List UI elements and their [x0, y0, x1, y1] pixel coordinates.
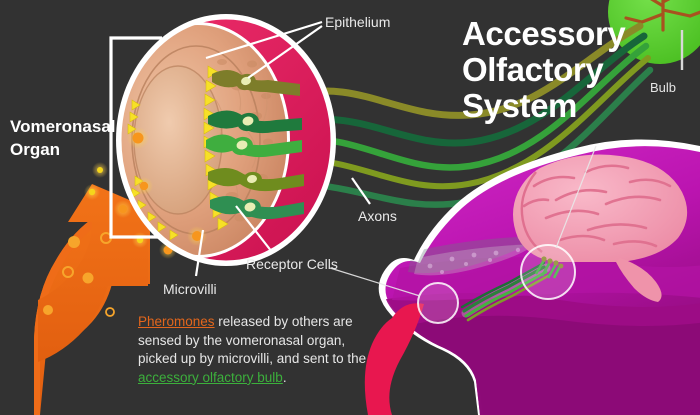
vno-highlight-circle	[418, 283, 458, 323]
infographic-root: Accessory Olfactory System Vomeronasal O…	[0, 0, 700, 415]
caption-body-2: .	[283, 370, 287, 385]
bulb-highlight-circle	[521, 245, 575, 299]
title-line-1: Accessory	[462, 16, 662, 52]
label-microvilli: Microvilli	[163, 281, 217, 297]
label-axons: Axons	[358, 208, 397, 224]
label-vno-line-1: Vomeronasal	[10, 115, 120, 138]
caption-link-accessory-olfactory-bulb[interactable]: accessory olfactory bulb	[138, 370, 283, 385]
caption-text: Pheromones released by others are sensed…	[138, 313, 370, 387]
label-bulb: Bulb	[650, 80, 676, 95]
label-vomeronasal-organ: Vomeronasal Organ	[10, 115, 120, 161]
label-epithelium: Epithelium	[325, 14, 390, 30]
title-line-3: System	[462, 88, 662, 124]
page-title: Accessory Olfactory System	[462, 16, 662, 124]
title-line-2: Olfactory	[462, 52, 662, 88]
label-vno-line-2: Organ	[10, 138, 120, 161]
caption-link-pheromones[interactable]: Pheromones	[138, 314, 215, 329]
pheromone-arrow	[34, 184, 150, 415]
label-receptor-cells: Receptor Cells	[246, 256, 338, 272]
